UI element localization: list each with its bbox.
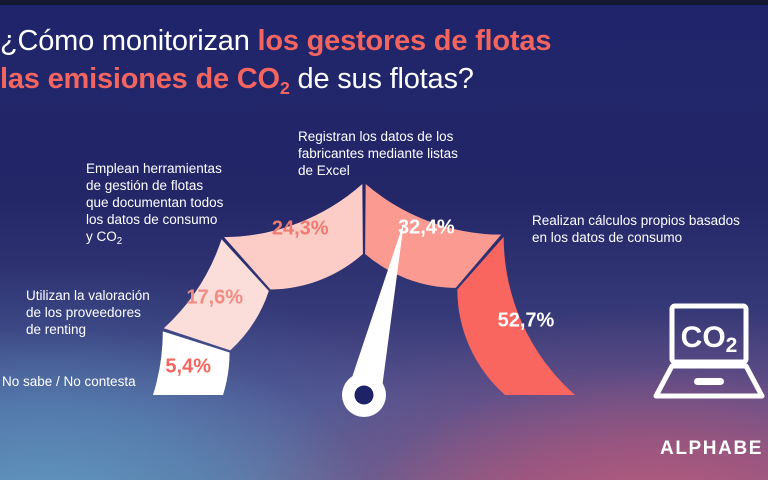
infographic-canvas: ¿Cómo monitorizan los gestores de flotas… (0, 0, 768, 480)
callout-own-calculations: Realizan cálculos propios basados en los… (532, 212, 764, 246)
callout-fleet-tools-text: Emplean herramientas de gestión de flota… (86, 161, 223, 244)
needle-hub-inner (355, 386, 374, 405)
callout-fleet-tools: Emplean herramientas de gestión de flota… (86, 160, 286, 247)
laptop-co2-icon: CO2 (650, 300, 768, 430)
logo-co2-text: CO2 (681, 321, 738, 357)
gauge-segment-value: 52,7% (498, 310, 555, 333)
brand-wordmark: ALPHABE (660, 438, 763, 460)
gauge-segment-value: 5,4% (165, 356, 211, 379)
callout-renting-providers: Utilizan la valoración de los proveedore… (26, 287, 206, 338)
callout-dont-know: No sabe / No contesta (2, 373, 172, 390)
gauge-segment-value: 32,4% (398, 217, 455, 240)
callout-excel-lists: Registran los datos de los fabricantes m… (298, 128, 508, 179)
callout-co2-subscript: 2 (117, 236, 122, 247)
